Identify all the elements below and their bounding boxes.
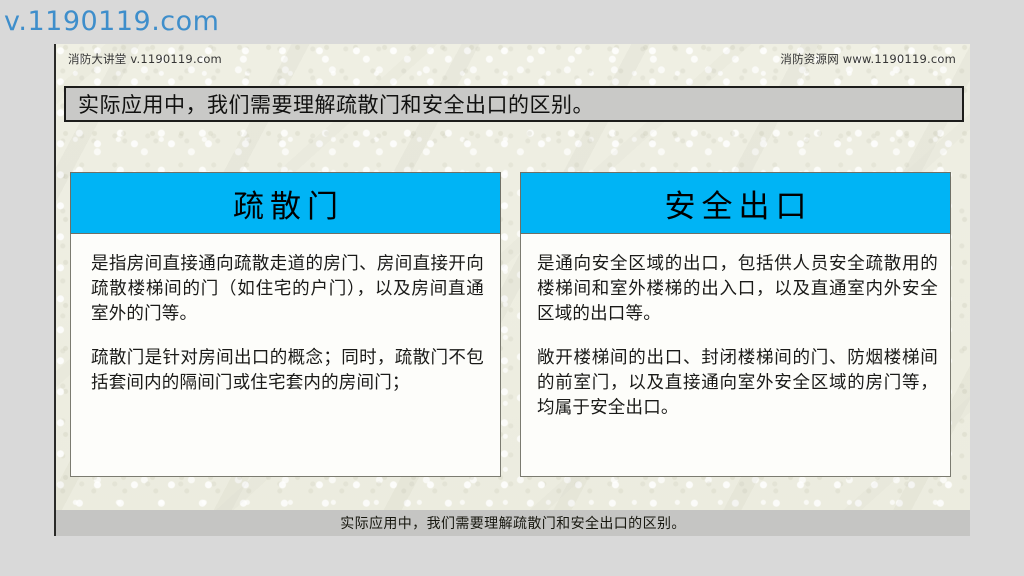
site-url-watermark: v.1190119.com <box>4 6 219 37</box>
comparison-columns: 疏散门 是指房间直接通向疏散走道的房门、房间直接开向疏散楼梯间的门（如住宅的户门… <box>56 172 970 477</box>
column-body-evacuation-door: 是指房间直接通向疏散走道的房门、房间直接开向疏散楼梯间的门（如住宅的户门），以及… <box>70 234 501 477</box>
slide-canvas: 消防大讲堂 v.1190119.com 消防资源网 www.1190119.co… <box>54 44 970 536</box>
column-header-label: 安全出口 <box>659 181 813 226</box>
column-header-evacuation-door: 疏散门 <box>70 172 501 234</box>
column-body-safety-exit: 是通向安全区域的出口，包括供人员安全疏散用的楼梯间和室外楼梯的出入口，以及直通室… <box>520 234 951 477</box>
column-paragraph: 疏散门是针对房间出口的概念；同时，疏散门不包括套间内的隔间门或住宅套内的房间门； <box>91 346 484 396</box>
slide-caption-bar: 实际应用中，我们需要理解疏散门和安全出口的区别。 <box>56 510 970 536</box>
comparison-column-safety-exit: 安全出口 是通向安全区域的出口，包括供人员安全疏散用的楼梯间和室外楼梯的出入口，… <box>520 172 951 477</box>
column-paragraph: 敞开楼梯间的出口、封闭楼梯间的门、防烟楼梯间的前室门，以及直接通向室外安全区域的… <box>537 346 938 421</box>
slide-title-text: 实际应用中，我们需要理解疏散门和安全出口的区别。 <box>66 89 594 119</box>
slide-header-right: 消防资源网 www.1190119.com <box>780 51 956 67</box>
slide-caption-text: 实际应用中，我们需要理解疏散门和安全出口的区别。 <box>340 513 686 533</box>
column-header-safety-exit: 安全出口 <box>520 172 951 234</box>
slide-title-banner: 实际应用中，我们需要理解疏散门和安全出口的区别。 <box>64 86 964 122</box>
column-header-label: 疏散门 <box>227 181 344 226</box>
column-paragraph: 是通向安全区域的出口，包括供人员安全疏散用的楼梯间和室外楼梯的出入口，以及直通室… <box>537 252 938 327</box>
column-paragraph: 是指房间直接通向疏散走道的房门、房间直接开向疏散楼梯间的门（如住宅的户门），以及… <box>91 252 484 327</box>
slide-header-left: 消防大讲堂 v.1190119.com <box>68 51 222 67</box>
comparison-column-evacuation-door: 疏散门 是指房间直接通向疏散走道的房门、房间直接开向疏散楼梯间的门（如住宅的户门… <box>70 172 501 477</box>
